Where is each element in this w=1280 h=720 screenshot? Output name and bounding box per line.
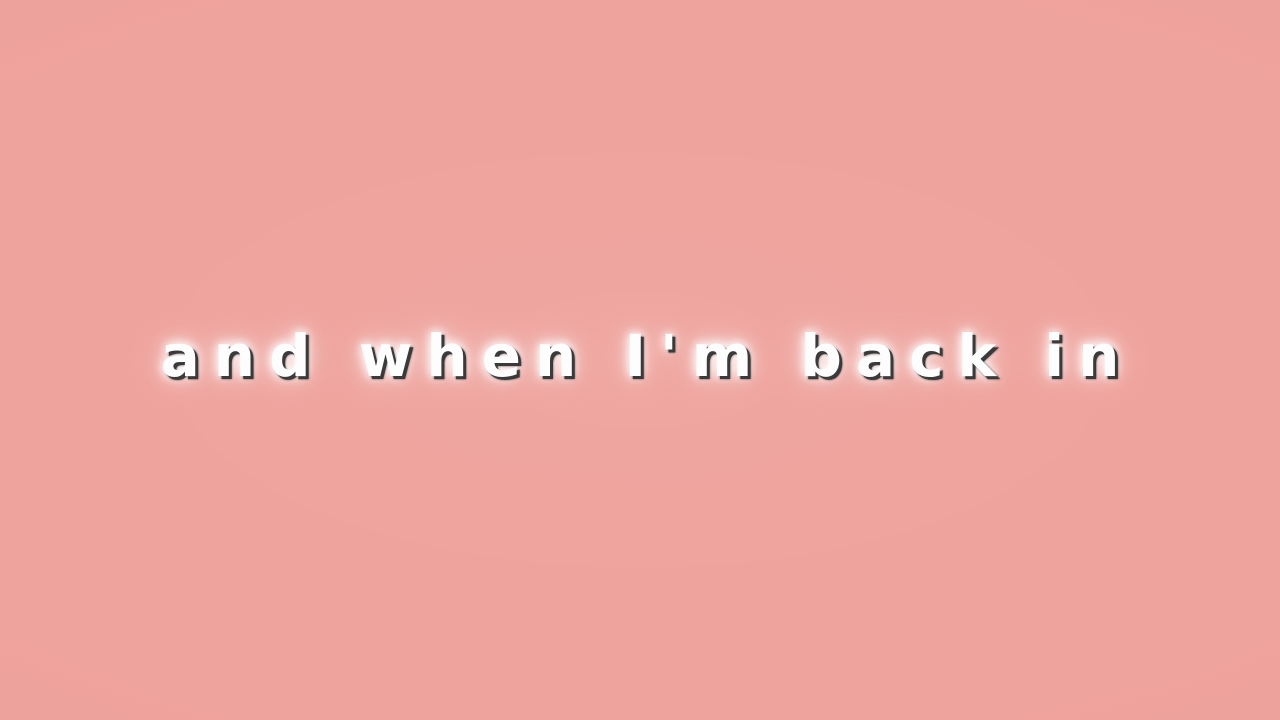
video-frame: and when I'm back in and when I'm back i… bbox=[0, 0, 1280, 720]
caption-text: and when I'm back in bbox=[147, 327, 1134, 386]
caption-layer: and when I'm back in and when I'm back i… bbox=[0, 0, 1280, 720]
caption-stack: and when I'm back in and when I'm back i… bbox=[147, 327, 1134, 386]
